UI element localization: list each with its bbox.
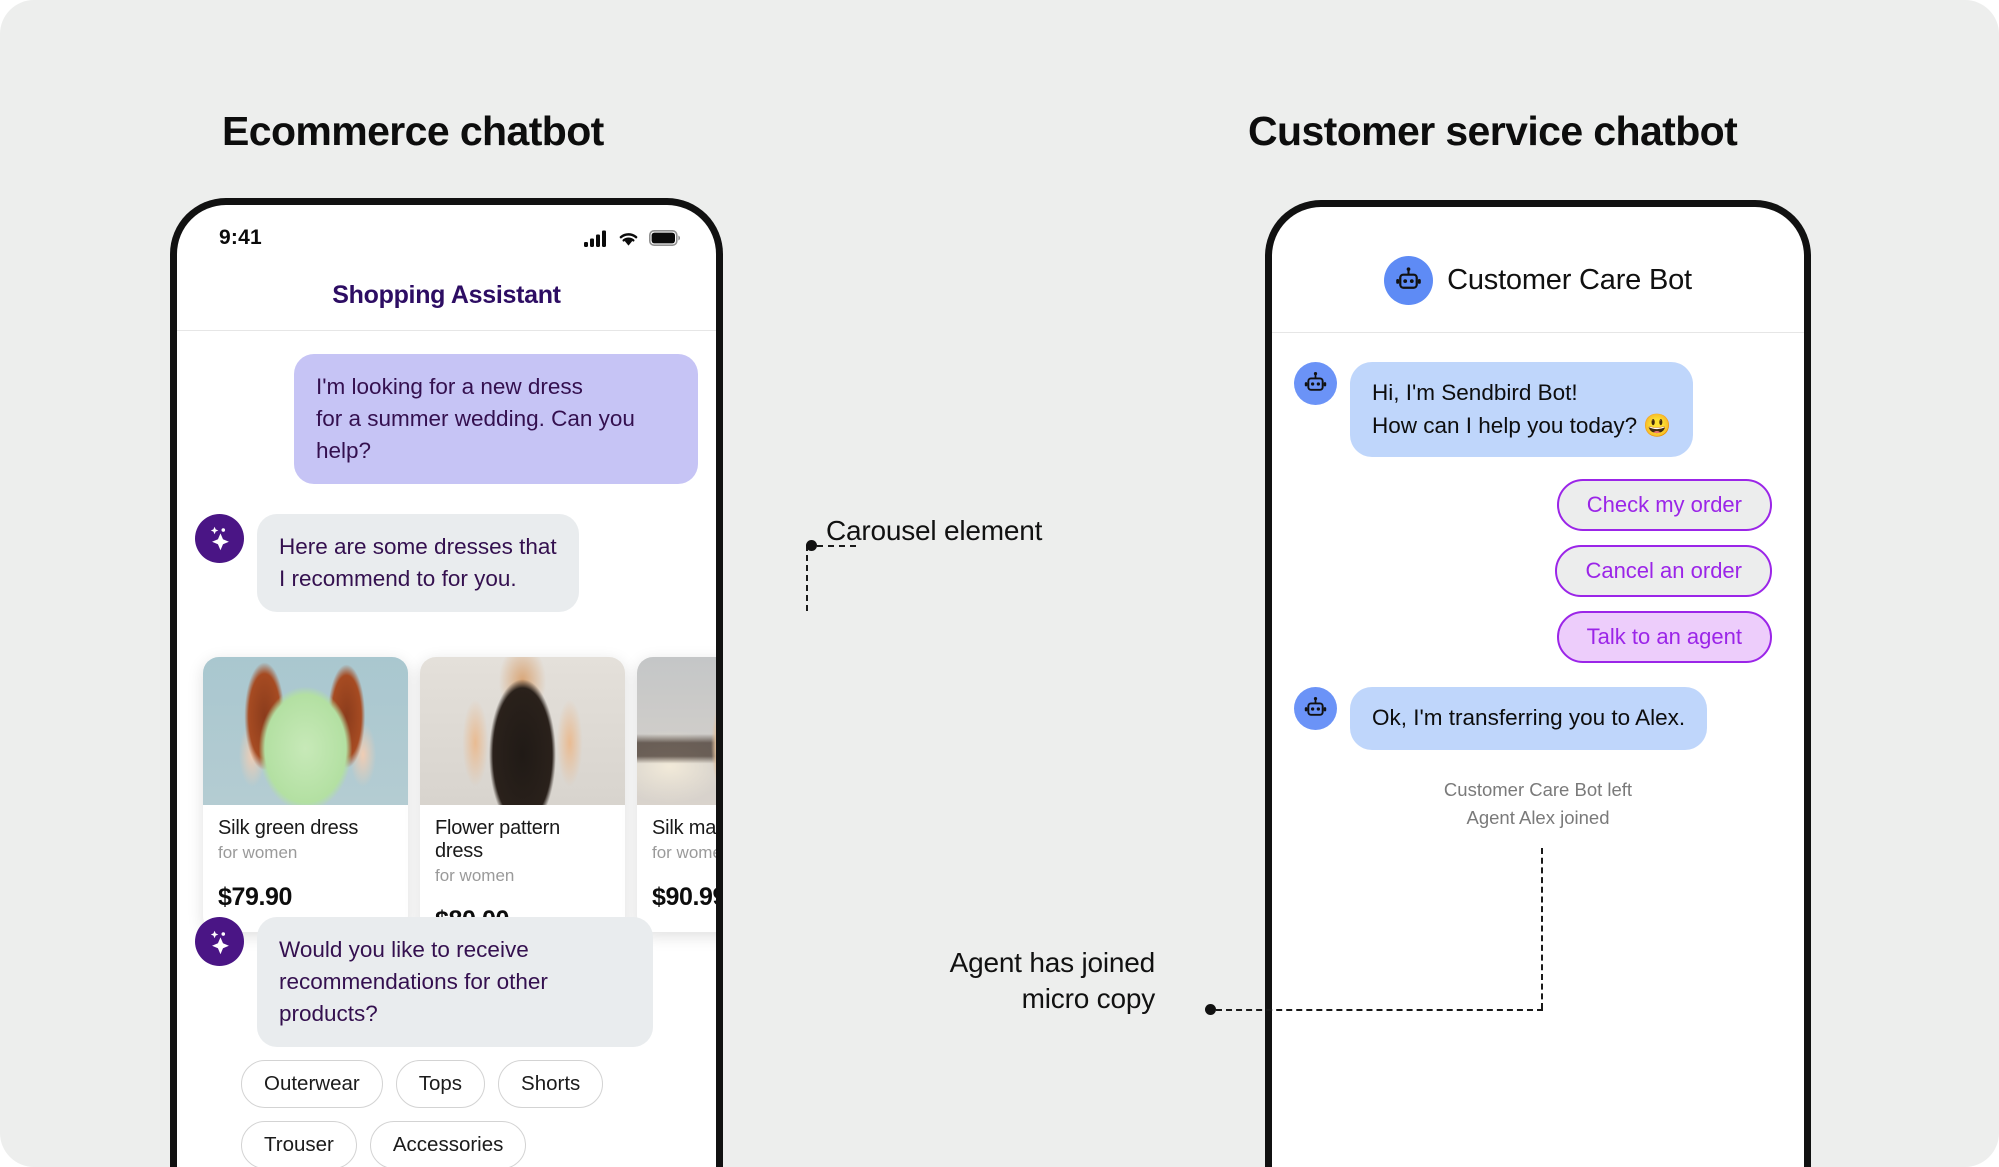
bot-message-bubble: Would you like to receive recommendation… xyxy=(257,917,653,1047)
agent-annotation-label: Agent has joined micro copy xyxy=(887,945,1155,1017)
status-bar-time: 9:41 xyxy=(219,226,262,250)
sparkle-icon xyxy=(205,523,235,553)
message-row-bot: Hi, I'm Sendbird Bot! How can I help you… xyxy=(1294,362,1782,457)
poster-canvas: Ecommerce chatbot Customer service chatb… xyxy=(0,0,1999,1167)
suggestion-chips: Outerwear Tops Shorts Trouser Accessorie… xyxy=(241,1060,641,1167)
system-note-agent-joined: Agent Alex joined xyxy=(1294,804,1782,832)
product-subtitle: for women xyxy=(218,843,393,863)
chat-thread-ecommerce-lower: Would you like to receive recommendation… xyxy=(195,917,723,1065)
product-card[interactable]: Silk green dress for women $79.90 xyxy=(203,657,408,932)
cellular-signal-icon xyxy=(584,230,608,247)
app-title: Shopping Assistant xyxy=(332,281,560,310)
product-image xyxy=(420,657,625,805)
ecommerce-section-title: Ecommerce chatbot xyxy=(222,108,604,155)
chat-thread-service: Hi, I'm Sendbird Bot! How can I help you… xyxy=(1272,334,1804,831)
product-image xyxy=(637,657,723,805)
customer-service-section-title: Customer service chatbot xyxy=(1248,108,1737,155)
message-row-bot: Ok, I'm transferring you to Alex. xyxy=(1294,687,1782,750)
product-details: Silk maxi dress for women $90.99 xyxy=(637,805,723,932)
product-card[interactable]: Silk maxi dress for women $90.99 xyxy=(637,657,723,932)
ecommerce-phone-frame: 9:41 xyxy=(170,198,723,1167)
bot-message-bubble: Hi, I'm Sendbird Bot! How can I help you… xyxy=(1350,362,1693,457)
bot-message-bubble: Here are some dresses that I recommend t… xyxy=(257,514,579,612)
robot-avatar xyxy=(1294,362,1337,405)
customer-care-bot-header: Customer Care Bot xyxy=(1272,207,1804,333)
quick-reply-check-my-order[interactable]: Check my order xyxy=(1557,479,1772,531)
chip-shorts[interactable]: Shorts xyxy=(498,1060,603,1108)
bot-transfer-message-bubble: Ok, I'm transferring you to Alex. xyxy=(1350,687,1707,750)
battery-icon xyxy=(649,230,680,246)
chip-tops[interactable]: Tops xyxy=(396,1060,485,1108)
user-message-line-2: for a summer wedding. Can you help? xyxy=(316,403,676,467)
quick-reply-list: Check my order Cancel an order Talk to a… xyxy=(1294,479,1782,663)
robot-icon xyxy=(1302,370,1329,397)
customer-service-phone-frame: Customer Care Bot Hi, I'm Sendb xyxy=(1265,200,1811,1167)
sparkle-avatar xyxy=(195,917,244,966)
bot-message-line-2: I recommend to for you. xyxy=(279,563,557,595)
bot-transfer-message-text: Ok, I'm transferring you to Alex. xyxy=(1372,702,1685,735)
agent-annotation-line-1: Agent has joined xyxy=(887,945,1155,981)
product-name: Silk maxi dress xyxy=(652,817,723,840)
bot-message-line-1: Hi, I'm Sendbird Bot! xyxy=(1372,377,1671,410)
product-card[interactable]: Flower pattern dress for women $80.00 xyxy=(420,657,625,955)
chip-accessories[interactable]: Accessories xyxy=(370,1121,527,1167)
message-row-user: I'm looking for a new dress for a summer… xyxy=(195,354,698,484)
chat-thread-ecommerce: I'm looking for a new dress for a summer… xyxy=(177,332,716,630)
status-bar-icons xyxy=(584,230,680,247)
status-bar: 9:41 xyxy=(177,205,716,261)
system-note-bot-left: Customer Care Bot left xyxy=(1294,776,1782,804)
wifi-icon xyxy=(617,230,640,247)
quick-reply-cancel-an-order[interactable]: Cancel an order xyxy=(1555,545,1772,597)
carousel-annotation-line-vertical xyxy=(806,545,808,611)
robot-icon xyxy=(1393,265,1424,296)
agent-annotation-line-horizontal xyxy=(1216,1009,1543,1011)
product-name: Flower pattern dress xyxy=(435,817,610,863)
agent-annotation-line-2: micro copy xyxy=(887,981,1155,1017)
user-message-line-1: I'm looking for a new dress xyxy=(316,371,676,403)
quick-reply-talk-to-an-agent[interactable]: Talk to an agent xyxy=(1557,611,1772,663)
bot-message-line-1: Would you like to receive xyxy=(279,934,631,966)
bot-message-line-2: recommendations for other products? xyxy=(279,966,631,1030)
product-subtitle: for women xyxy=(652,843,723,863)
robot-avatar xyxy=(1384,256,1433,305)
robot-avatar xyxy=(1294,687,1337,730)
robot-icon xyxy=(1302,695,1329,722)
bot-message-line-2: How can I help you today? 😃 xyxy=(1372,410,1671,443)
carousel-annotation-dot xyxy=(806,540,817,551)
shopping-assistant-header: Shopping Assistant xyxy=(177,261,716,331)
sparkle-avatar xyxy=(195,514,244,563)
message-row-bot: Here are some dresses that I recommend t… xyxy=(195,514,698,612)
message-row-bot: Would you like to receive recommendation… xyxy=(195,917,723,1047)
agent-annotation-line-vertical xyxy=(1541,848,1543,1009)
chip-outerwear[interactable]: Outerwear xyxy=(241,1060,383,1108)
product-details: Silk green dress for women $79.90 xyxy=(203,805,408,932)
product-subtitle: for women xyxy=(435,866,610,886)
product-image xyxy=(203,657,408,805)
agent-annotation-dot xyxy=(1205,1004,1216,1015)
carousel-annotation-label: Carousel element xyxy=(826,515,1042,547)
product-name: Silk green dress xyxy=(218,817,393,840)
user-message-bubble: I'm looking for a new dress for a summer… xyxy=(294,354,698,484)
chip-trouser[interactable]: Trouser xyxy=(241,1121,357,1167)
system-notes: Customer Care Bot left Agent Alex joined xyxy=(1294,776,1782,832)
product-carousel[interactable]: Silk green dress for women $79.90 Flower… xyxy=(203,657,723,955)
bot-message-line-1: Here are some dresses that xyxy=(279,531,557,563)
product-price: $90.99 xyxy=(652,883,723,912)
sparkle-icon xyxy=(205,927,235,957)
product-price: $79.90 xyxy=(218,883,393,912)
app-title: Customer Care Bot xyxy=(1447,264,1692,297)
